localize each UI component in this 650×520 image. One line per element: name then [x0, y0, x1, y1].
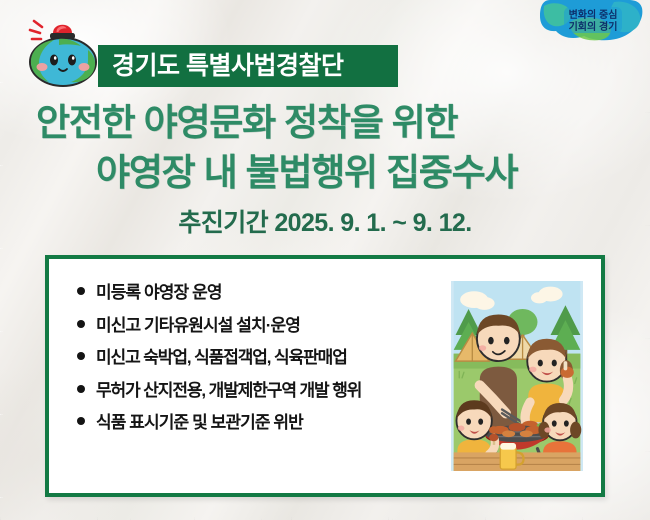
mascot-body: [30, 38, 96, 86]
picnic-table: [454, 452, 581, 471]
bullet-icon: [77, 287, 85, 295]
poster-canvas: 변화의 중심 기회의 경기: [0, 0, 650, 520]
department-banner: 경기도 특별사법경찰단: [98, 45, 398, 87]
brand-logo-line2: 기회의 경기: [569, 20, 618, 33]
violation-text: 미신고 숙박업, 식품접객업, 식육판매업: [96, 348, 347, 368]
violation-text: 무허가 산지전용, 개발제한구역 개발 행위: [96, 381, 361, 401]
bullet-icon: [77, 320, 85, 328]
campaign-period: 추진기간 2025. 9. 1. ~ 9. 12.: [0, 203, 650, 239]
list-item: 미등록 야영장 운영: [77, 283, 449, 303]
list-item: 미신고 숙박업, 식품접객업, 식육판매업: [77, 348, 449, 368]
list-item: 미신고 기타유원시설 설치·운영: [77, 316, 449, 336]
headline: 안전한 야영문화 정착을 위한 야영장 내 불법행위 집중수사: [0, 98, 650, 198]
family-camping-bbq-illustration: [449, 279, 585, 473]
list-item: 식품 표시기준 및 보관기준 위반: [77, 413, 449, 433]
violation-text: 미등록 야영장 운영: [96, 283, 222, 303]
violation-text: 식품 표시기준 및 보관기준 위반: [96, 413, 303, 433]
bullet-icon: [77, 417, 85, 425]
police-siren-mascot: [22, 12, 108, 88]
siren-light: [50, 25, 75, 39]
bullet-icon: [77, 385, 85, 393]
siren-flash-lines: [30, 21, 42, 39]
mascot-cheek-left: [37, 63, 48, 71]
brand-logo-line1: 변화의 중심: [569, 8, 618, 21]
violation-text: 미신고 기타유원시설 설치·운영: [96, 316, 300, 336]
headline-line-1: 안전한 야영문화 정착을 위한: [0, 98, 650, 148]
violation-list: 미등록 야영장 운영 미신고 기타유원시설 설치·운영 미신고 숙박업, 식품접…: [49, 259, 449, 493]
headline-line-2: 야영장 내 불법행위 집중수사: [0, 148, 650, 198]
department-name: 경기도 특별사법경찰단: [112, 54, 343, 79]
list-item: 무허가 산지전용, 개발제한구역 개발 행위: [77, 381, 449, 401]
violations-content-box: 미등록 야영장 운영 미신고 기타유원시설 설치·운영 미신고 숙박업, 식품접…: [45, 255, 605, 497]
gyeonggi-brand-logo: 변화의 중심 기회의 경기: [540, 0, 644, 46]
mascot-eye-right: [68, 55, 76, 66]
mascot-eye-left: [50, 55, 58, 66]
bullet-icon: [77, 352, 85, 360]
mascot-cheek-right: [79, 63, 90, 71]
